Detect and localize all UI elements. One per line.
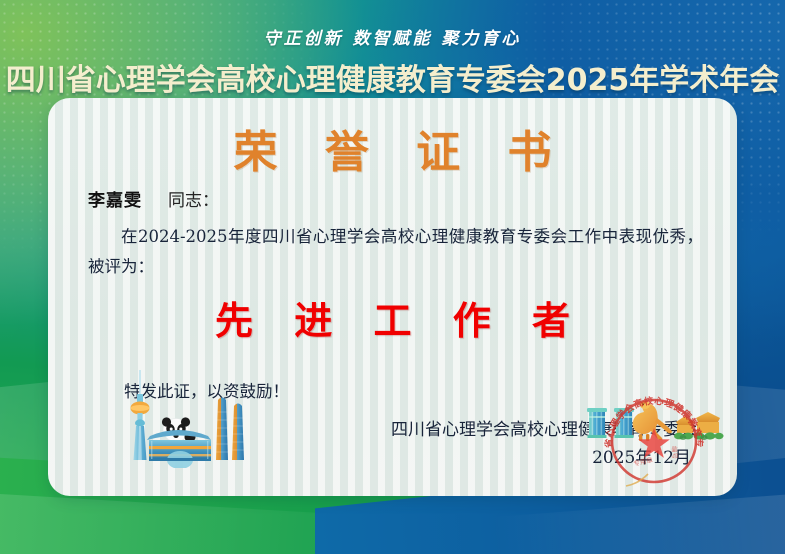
panda-icon bbox=[162, 417, 196, 442]
certificate-card: 荣 誉 证 书 李嘉雯同志： 在2024-2025年度四川省心理学会高校心理健康… bbox=[48, 98, 737, 496]
chengdu-skyline-decoration bbox=[104, 368, 304, 468]
recipient-name: 李嘉雯 bbox=[88, 191, 142, 211]
recipient-suffix: 同志： bbox=[168, 191, 219, 211]
recipient-line: 李嘉雯同志： bbox=[88, 186, 219, 211]
zigong-building-two-icon bbox=[614, 408, 634, 438]
certificate-page: 守正创新 数智赋能 聚力育心 四川省心理学会高校心理健康教育专委会2025年学术… bbox=[0, 0, 785, 554]
certificate-body-text: 在2024-2025年度四川省心理学会高校心理健康教育专委会工作中表现优秀，被评… bbox=[88, 222, 703, 282]
dinosaur-icon bbox=[633, 401, 672, 441]
terraced-pavilions-icon bbox=[674, 412, 724, 440]
twin-towers-icon bbox=[216, 398, 244, 461]
chengdu-tv-tower-icon bbox=[131, 370, 150, 460]
zigong-skyline-decoration bbox=[584, 392, 729, 452]
conference-title: 四川省心理学会高校心理健康教育专委会2025年学术年会 bbox=[0, 55, 785, 99]
conference-tagline: 守正创新 数智赋能 聚力育心 bbox=[0, 24, 785, 49]
award-title: 先 进 工 作 者 bbox=[48, 290, 737, 345]
zigong-building-one-icon bbox=[587, 408, 607, 438]
certificate-heading: 荣 誉 证 书 bbox=[48, 116, 737, 180]
